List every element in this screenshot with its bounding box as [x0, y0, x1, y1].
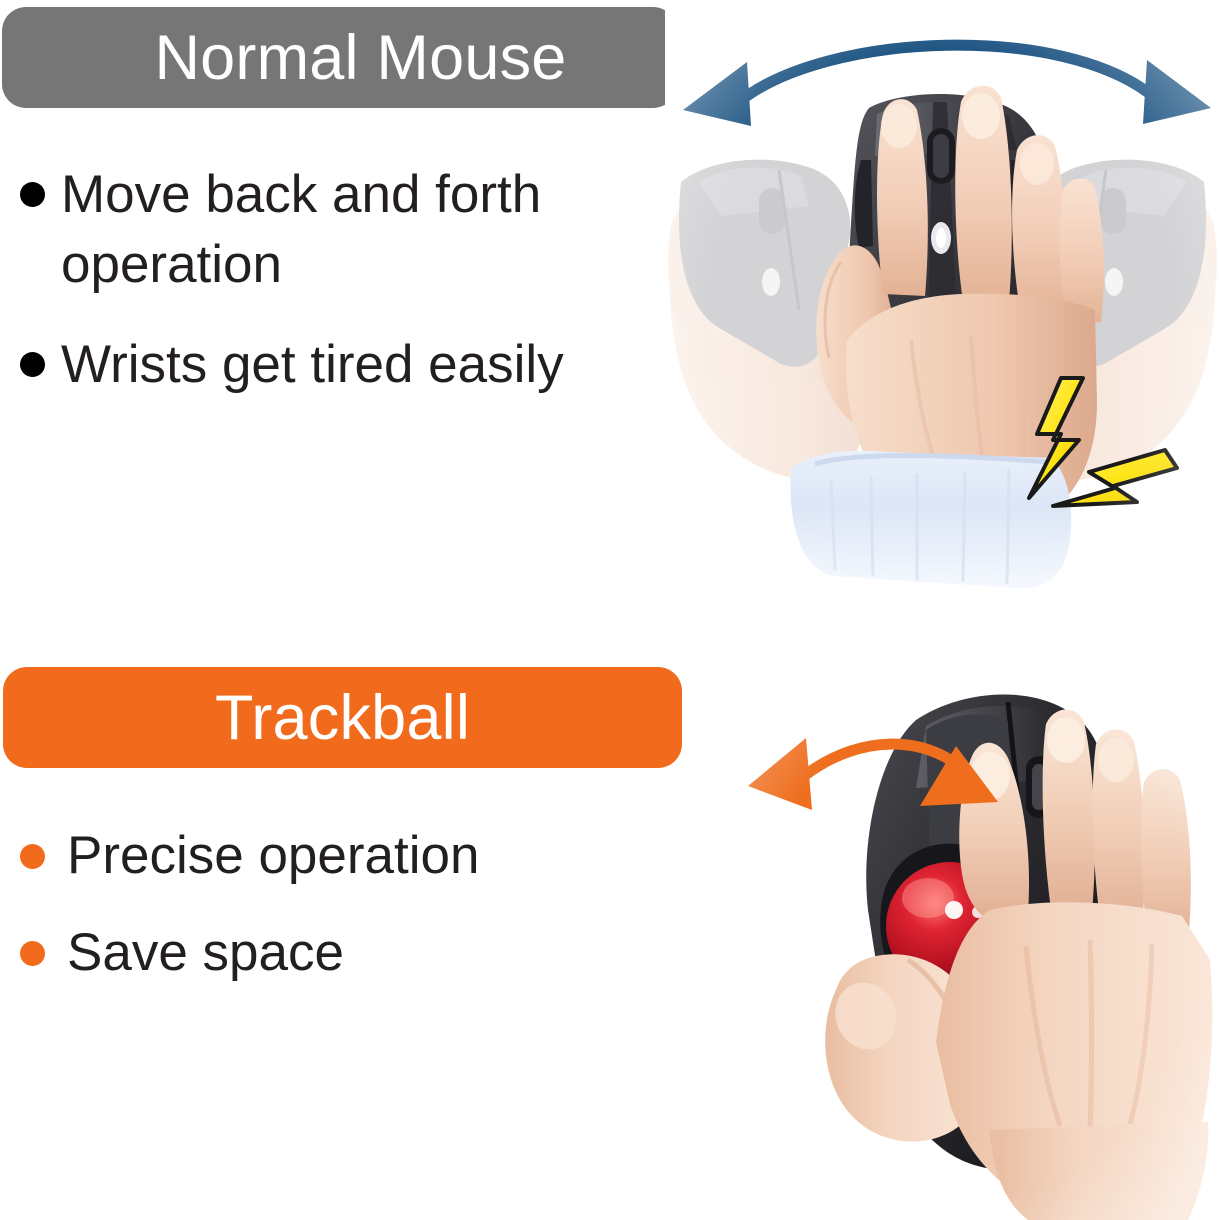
thumb-on-trackball-photo: [740, 660, 1220, 1220]
feature-list-normal-mouse: Move back and forth operation Wrists get…: [20, 160, 645, 430]
feature-list-trackball: Precise operation Save space: [20, 822, 620, 1016]
list-item-label: Wrists get tired easily: [61, 330, 645, 400]
section-header-trackball: Trackball: [3, 667, 682, 768]
bullet-dot-icon: [20, 844, 45, 869]
bullet-dot-icon: [20, 182, 45, 207]
list-item: Save space: [20, 919, 620, 988]
bullet-dot-icon: [20, 941, 45, 966]
hand-on-normal-mouse-photo: [665, 10, 1220, 610]
bullet-dot-icon: [20, 352, 45, 377]
list-item: Wrists get tired easily: [20, 330, 645, 400]
list-item-label: Move back and forth operation: [61, 160, 645, 300]
list-item: Precise operation: [20, 822, 620, 891]
section-header-normal-mouse: Normal Mouse: [2, 7, 677, 108]
comparison-infographic: Normal Mouse Move back and forth operati…: [0, 0, 1220, 1220]
list-item-label: Save space: [67, 919, 620, 988]
list-item-label: Precise operation: [67, 822, 620, 891]
list-item: Move back and forth operation: [20, 160, 645, 300]
